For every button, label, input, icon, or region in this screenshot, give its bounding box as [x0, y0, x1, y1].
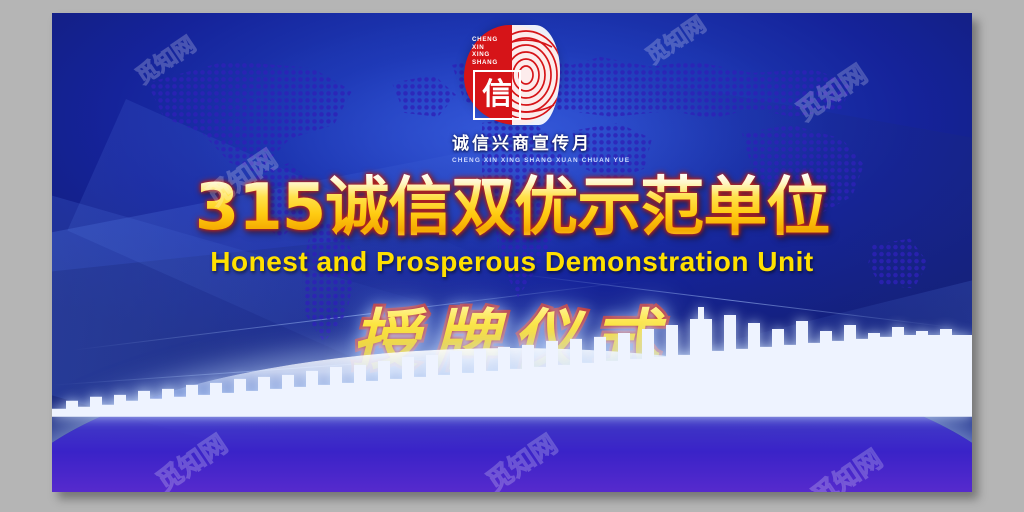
poster-artboard: CHENG XIN XING SHANG 信 诚信兴商宣传月 CHENG XIN…	[52, 13, 972, 492]
page-title: 315诚信双优示范单位	[52, 173, 972, 243]
logo-pinyin-line: CHENG	[472, 36, 498, 44]
headline-english: Honest and Prosperous Demonstration Unit	[52, 246, 972, 278]
logo-pinyin-line: SHANG	[472, 59, 498, 67]
logo-pinyin-line: XIN	[472, 44, 498, 52]
logo-org-pinyin: CHENG XIN XING SHANG XUAN CHUAN YUE	[452, 157, 572, 164]
brand-logo: CHENG XIN XING SHANG 信 诚信兴商宣传月 CHENG XIN…	[452, 25, 572, 164]
city-skyline	[52, 305, 972, 425]
logo-org-name: 诚信兴商宣传月	[452, 129, 572, 154]
canvas: CHENG XIN XING SHANG 信 诚信兴商宣传月 CHENG XIN…	[0, 0, 1024, 512]
seal-character: 信	[482, 80, 512, 110]
logo-pinyin-line: XING	[472, 51, 498, 59]
logo-mark: CHENG XIN XING SHANG 信	[464, 25, 560, 125]
seal-character-box: 信	[473, 70, 521, 120]
logo-pinyin-stack: CHENG XIN XING SHANG	[472, 36, 498, 66]
